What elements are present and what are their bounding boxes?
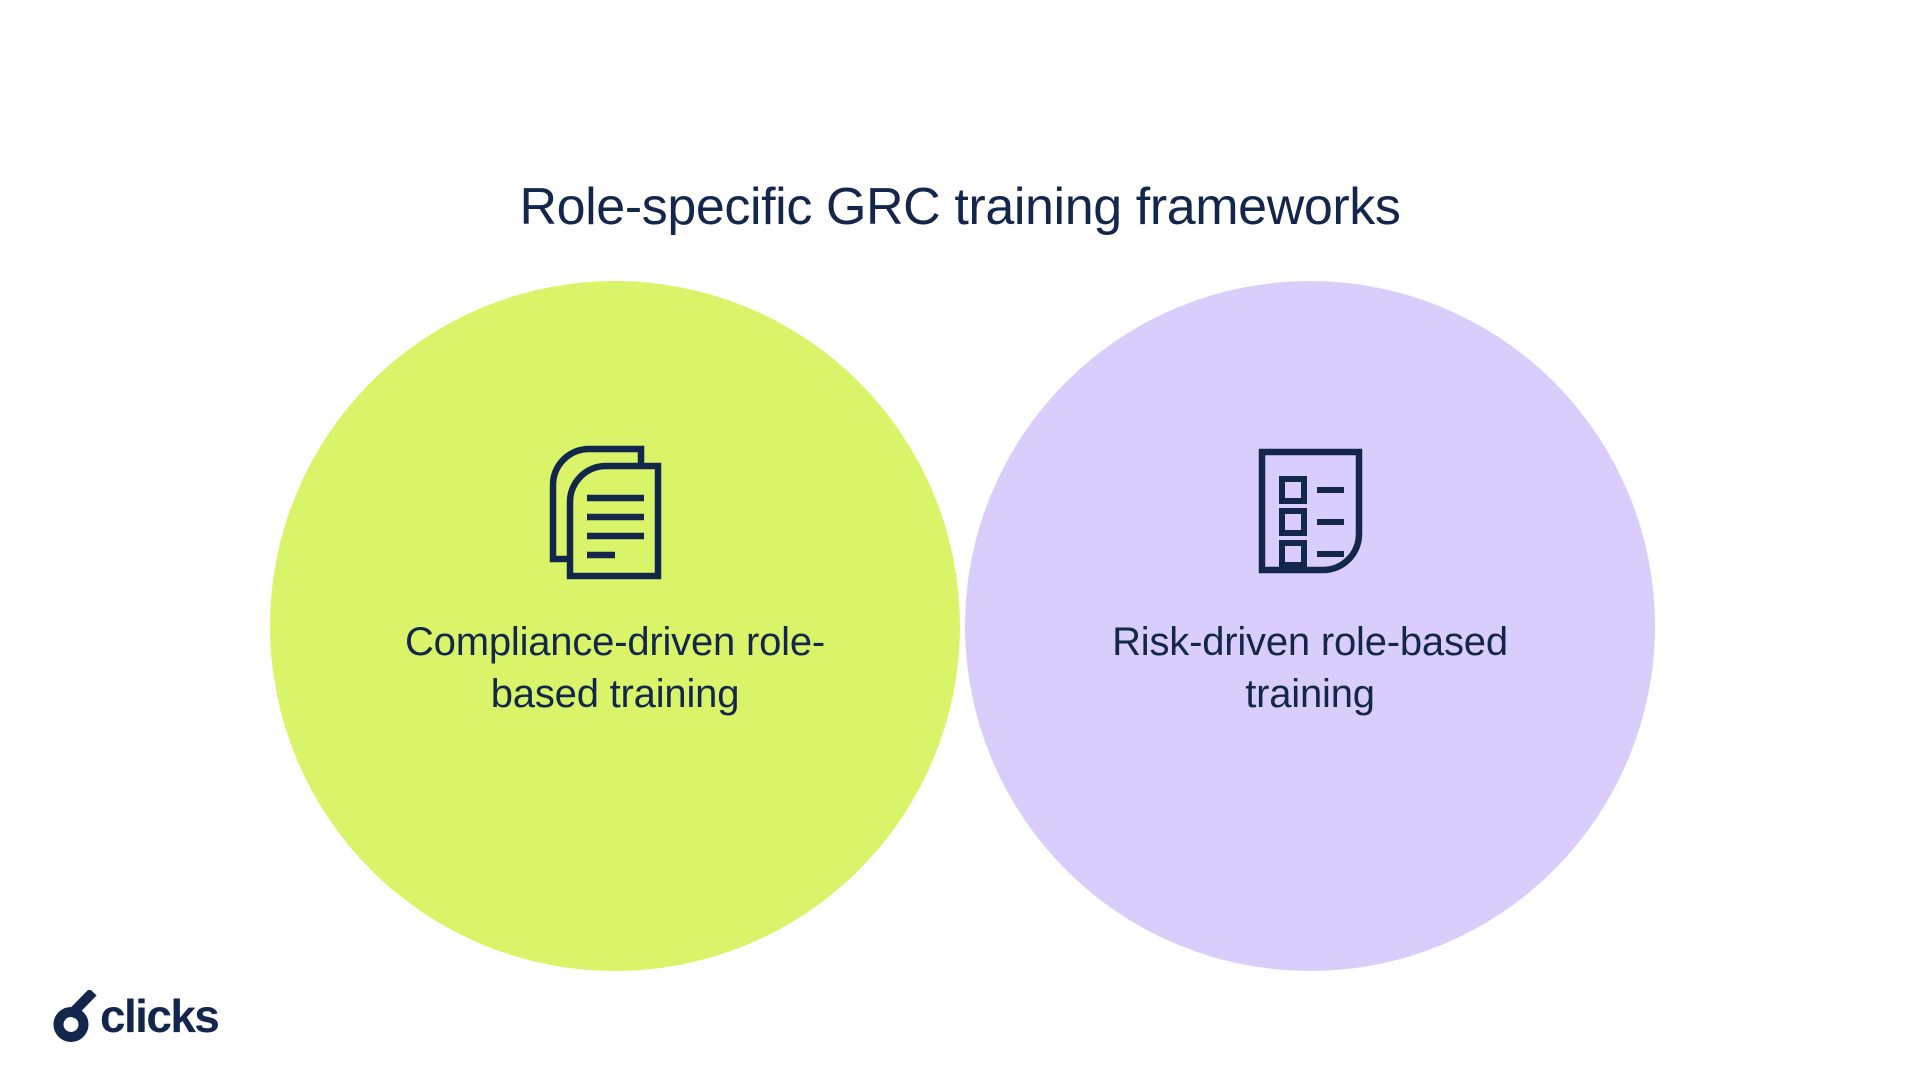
page-title: Role-specific GRC training frameworks [0, 176, 1920, 238]
slide-canvas: Role-specific GRC training frameworks Co… [0, 0, 1920, 1080]
circle-risk-driven: Risk-driven role-based training [965, 281, 1655, 971]
6clicks-mark-icon [52, 990, 98, 1042]
circle-compliance-label: Compliance-driven role-based training [365, 616, 865, 720]
6clicks-logo-text: clicks [100, 993, 218, 1039]
documents-icon [540, 436, 690, 586]
6clicks-logo: clicks [52, 988, 218, 1044]
circle-compliance-driven: Compliance-driven role-based training [270, 281, 960, 971]
checklist-document-icon [1235, 436, 1385, 586]
circle-risk-label: Risk-driven role-based training [1060, 616, 1560, 720]
